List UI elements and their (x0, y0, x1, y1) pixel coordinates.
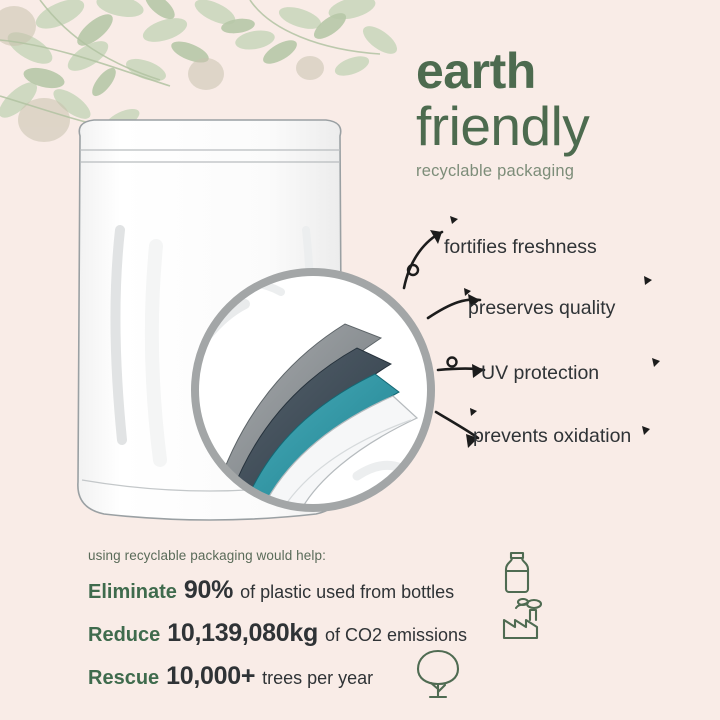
tree-icon (410, 645, 466, 701)
headline-block: earth friendly recyclable packaging (416, 46, 706, 181)
stat-row-eliminate: Eliminate 90% of plastic used from bottl… (88, 576, 648, 605)
stat-tail: of CO2 emissions (325, 625, 467, 646)
stat-number: 10,000+ (166, 662, 255, 691)
headline-word-earth: earth (416, 46, 706, 96)
factory-icon (500, 598, 546, 642)
stats-lead-text: using recyclable packaging would help: (88, 548, 648, 563)
stat-tail: of plastic used from bottles (240, 582, 454, 603)
stat-verb: Reduce (88, 624, 160, 647)
stats-block: using recyclable packaging would help: E… (88, 548, 648, 705)
stat-verb: Rescue (88, 667, 159, 690)
poster-canvas: earth friendly recyclable packaging (0, 0, 720, 720)
stat-verb: Eliminate (88, 581, 177, 604)
layer-magnifier (185, 262, 441, 518)
stat-tail: trees per year (262, 668, 373, 689)
callout-fortifies-freshness: fortifies freshness (444, 236, 597, 259)
stat-row-reduce: Reduce 10,139,080kg of CO2 emissions (88, 619, 648, 648)
callout-uv-protection: UV protection (481, 362, 599, 385)
callout-prevents-oxidation: prevents oxidation (473, 425, 631, 448)
stat-row-rescue: Rescue 10,000+ trees per year (88, 662, 648, 691)
callout-preserves-quality: preserves quality (468, 297, 615, 320)
stat-number: 90% (184, 576, 233, 605)
headline-subtitle: recyclable packaging (416, 162, 706, 181)
stat-number: 10,139,080kg (167, 619, 318, 648)
headline-word-friendly: friendly (416, 98, 706, 156)
bottle-icon (495, 549, 539, 597)
